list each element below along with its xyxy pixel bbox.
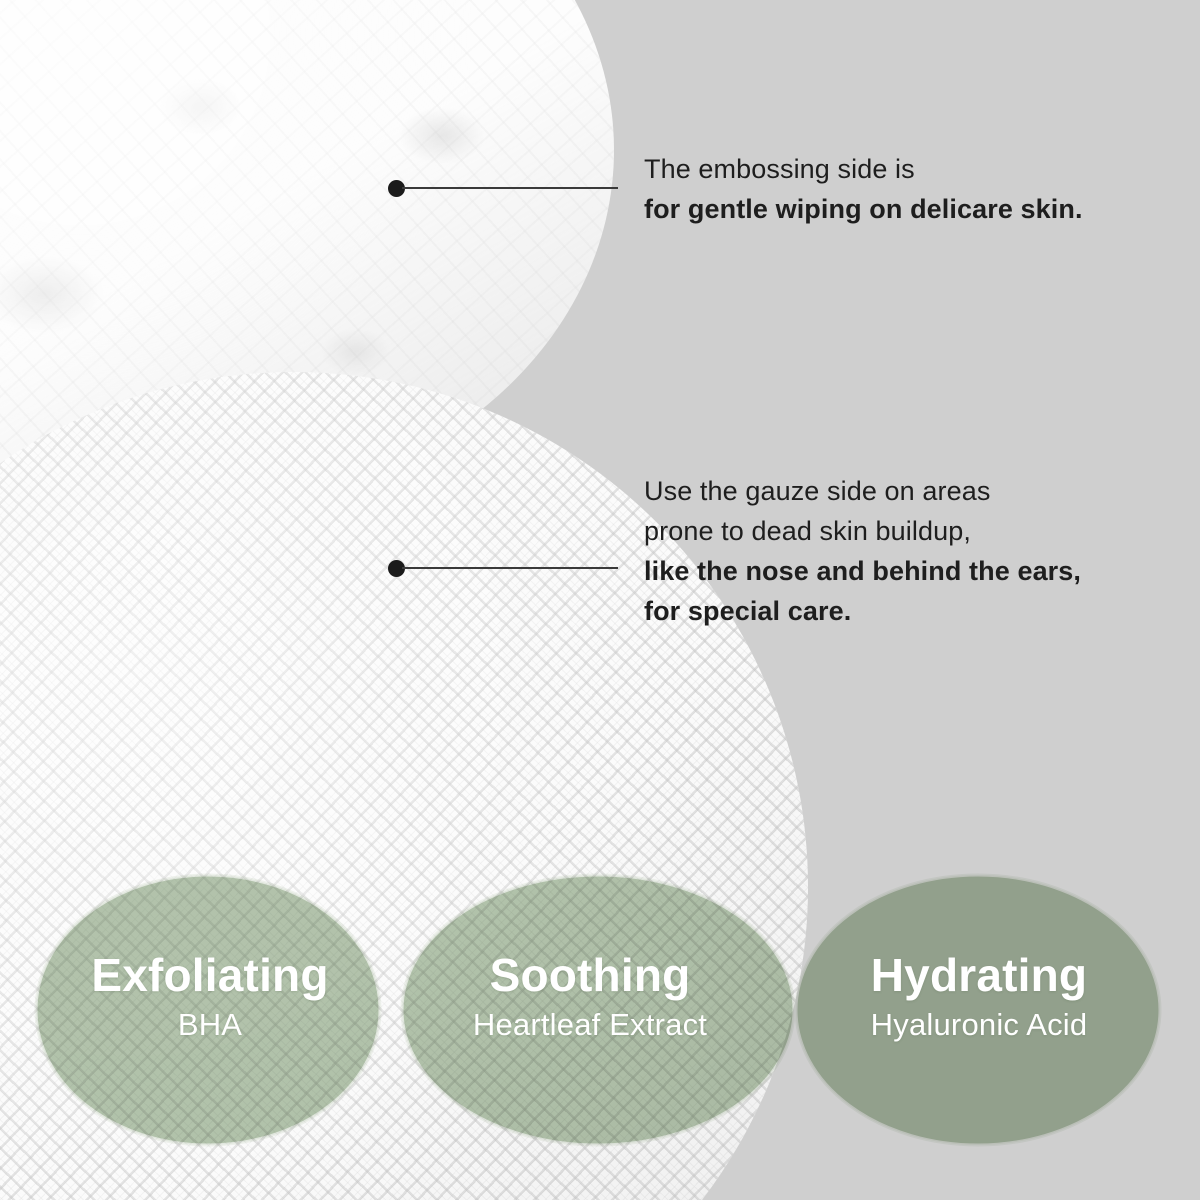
benefit-ellipse-soothing <box>402 875 794 1145</box>
benefit-ellipse-hydrating <box>796 875 1160 1145</box>
product-feature-graphic: The embossing side is for gentle wiping … <box>0 0 1200 1200</box>
benefit-ellipse-shapes <box>0 0 1200 1200</box>
benefit-ellipse-exfoliating <box>36 875 380 1145</box>
benefit-badges: Exfoliating BHA Soothing Heartleaf Extra… <box>0 0 1200 1200</box>
